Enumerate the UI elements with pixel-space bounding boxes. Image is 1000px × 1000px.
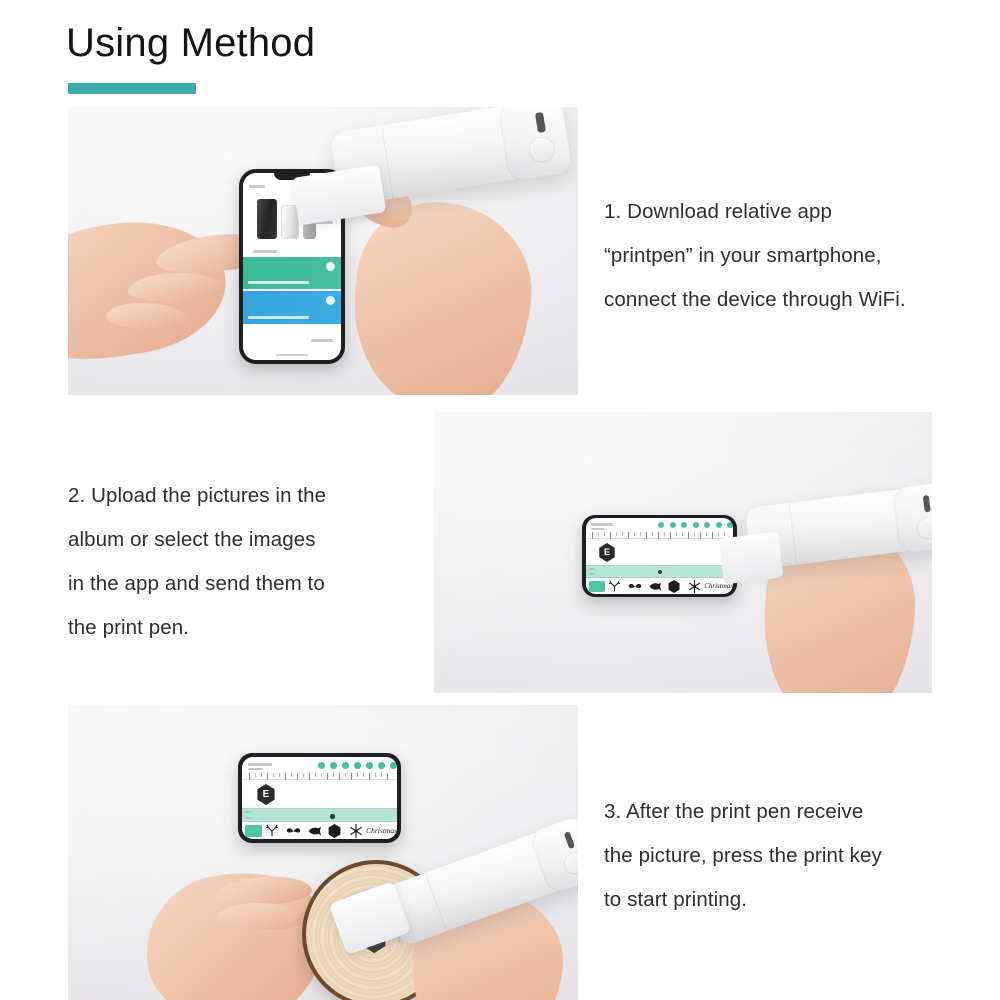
color-dot-4[interactable]: [692, 521, 700, 529]
color-dot-3[interactable]: [680, 521, 688, 529]
snowflake-icon[interactable]: [684, 580, 704, 593]
printer-brand-label: [486, 143, 488, 148]
logo-glyph: E: [263, 790, 270, 800]
color-dot-1[interactable]: [317, 761, 326, 770]
banner-blue-caption: [248, 316, 309, 319]
photo-step-3: E: [68, 705, 578, 1000]
color-dot-2[interactable]: [669, 521, 677, 529]
color-dots-row[interactable]: [317, 761, 397, 770]
script-text-label: Christmas: [366, 827, 397, 835]
smartphone: E: [582, 515, 737, 597]
banner-card-blue[interactable]: [243, 291, 341, 324]
gallery-button[interactable]: [245, 825, 262, 837]
hexagon-logo-icon: E: [598, 543, 616, 562]
phone-screen: E: [242, 757, 397, 839]
printer-body-seam: [425, 873, 447, 932]
snowflake-icon[interactable]: [345, 824, 366, 838]
page-title: Using Method: [66, 21, 315, 65]
hexagon-logo-icon[interactable]: [665, 580, 685, 593]
title-underline-rule: [68, 83, 196, 94]
app-subtitle-stub: [248, 768, 263, 770]
hexagon-logo-icon: E: [256, 784, 276, 805]
phone-screen: E: [586, 518, 733, 594]
step-2-line-1: 2. Upload the pictures in the: [68, 474, 326, 518]
fish-icon[interactable]: [304, 825, 325, 837]
step-3-line-1: 3. After the print pen receive: [604, 790, 882, 834]
step-1-line-2: “printpen” in your smartphone,: [604, 234, 906, 278]
script-text-icon[interactable]: Christmas: [366, 827, 397, 835]
antlers-icon[interactable]: [262, 824, 283, 837]
color-dot-1[interactable]: [657, 521, 665, 529]
smartphone: E: [238, 753, 401, 843]
color-dot-5[interactable]: [703, 521, 711, 529]
product-image-dark: [257, 199, 277, 239]
color-dot-5[interactable]: [365, 761, 374, 770]
banner-card-green[interactable]: [243, 257, 341, 289]
printer-body-seam: [789, 503, 798, 565]
logo-glyph: E: [604, 548, 610, 557]
color-dot-2[interactable]: [329, 761, 338, 770]
product-instruction-page: Using Method 1. Download relative app “p…: [0, 0, 1000, 1000]
app-title-stub: [591, 523, 613, 526]
edit-canvas[interactable]: E: [242, 780, 397, 808]
slider-knob[interactable]: [658, 570, 662, 574]
hexagon-logo-icon[interactable]: [324, 824, 345, 838]
step-2-line-3: in the app and send them to: [68, 562, 326, 606]
app-header-stub: [249, 185, 265, 188]
antlers-icon[interactable]: [605, 580, 625, 592]
step-2-text: 2. Upload the pictures in the album or s…: [68, 474, 326, 650]
printer-body-seam: [381, 125, 394, 198]
photo-step-2: E: [434, 412, 932, 693]
fish-icon[interactable]: [645, 581, 665, 592]
color-dot-3[interactable]: [341, 761, 350, 770]
slider-knob[interactable]: [330, 814, 335, 819]
mustache-icon[interactable]: [625, 581, 645, 592]
banner-green-badge: [326, 262, 335, 271]
step-3-text: 3. After the print pen receive the pictu…: [604, 790, 882, 922]
color-dot-6[interactable]: [377, 761, 386, 770]
step-2-line-4: the print pen.: [68, 606, 326, 650]
step-3-line-3: to start printing.: [604, 878, 882, 922]
step-1-text: 1. Download relative app “printpen” in y…: [604, 190, 906, 322]
color-dot-4[interactable]: [353, 761, 362, 770]
banner-green-caption: [248, 281, 309, 284]
edit-canvas[interactable]: E: [586, 539, 733, 565]
color-dot-6[interactable]: [715, 521, 723, 529]
product-caption: [253, 250, 277, 253]
photo-step-1: [68, 107, 578, 395]
home-indicator: [276, 354, 308, 356]
step-2-line-2: album or select the images: [68, 518, 326, 562]
color-dot-7[interactable]: [726, 521, 733, 529]
sticker-toolbar[interactable]: Christmas: [586, 578, 733, 594]
ruler-strip: [586, 532, 733, 539]
status-time: [249, 175, 250, 180]
app-footer-stub: [311, 339, 333, 342]
position-slider[interactable]: [586, 565, 733, 578]
sticker-toolbar[interactable]: Christmas: [242, 822, 397, 839]
position-slider[interactable]: [242, 808, 397, 822]
gallery-button[interactable]: [589, 581, 605, 592]
step-1-line-3: connect the device through WiFi.: [604, 278, 906, 322]
ruler-strip: [242, 773, 397, 780]
step-3-line-2: the picture, press the print key: [604, 834, 882, 878]
color-dots-row[interactable]: [657, 521, 733, 529]
mustache-icon[interactable]: [283, 825, 304, 837]
printer-paper-guide: [718, 532, 783, 585]
app-title-stub: [248, 763, 272, 766]
banner-blue-badge: [326, 296, 335, 305]
app-subtitle-stub: [591, 528, 605, 530]
color-dot-7[interactable]: [389, 761, 397, 770]
step-1-line-1: 1. Download relative app: [604, 190, 906, 234]
